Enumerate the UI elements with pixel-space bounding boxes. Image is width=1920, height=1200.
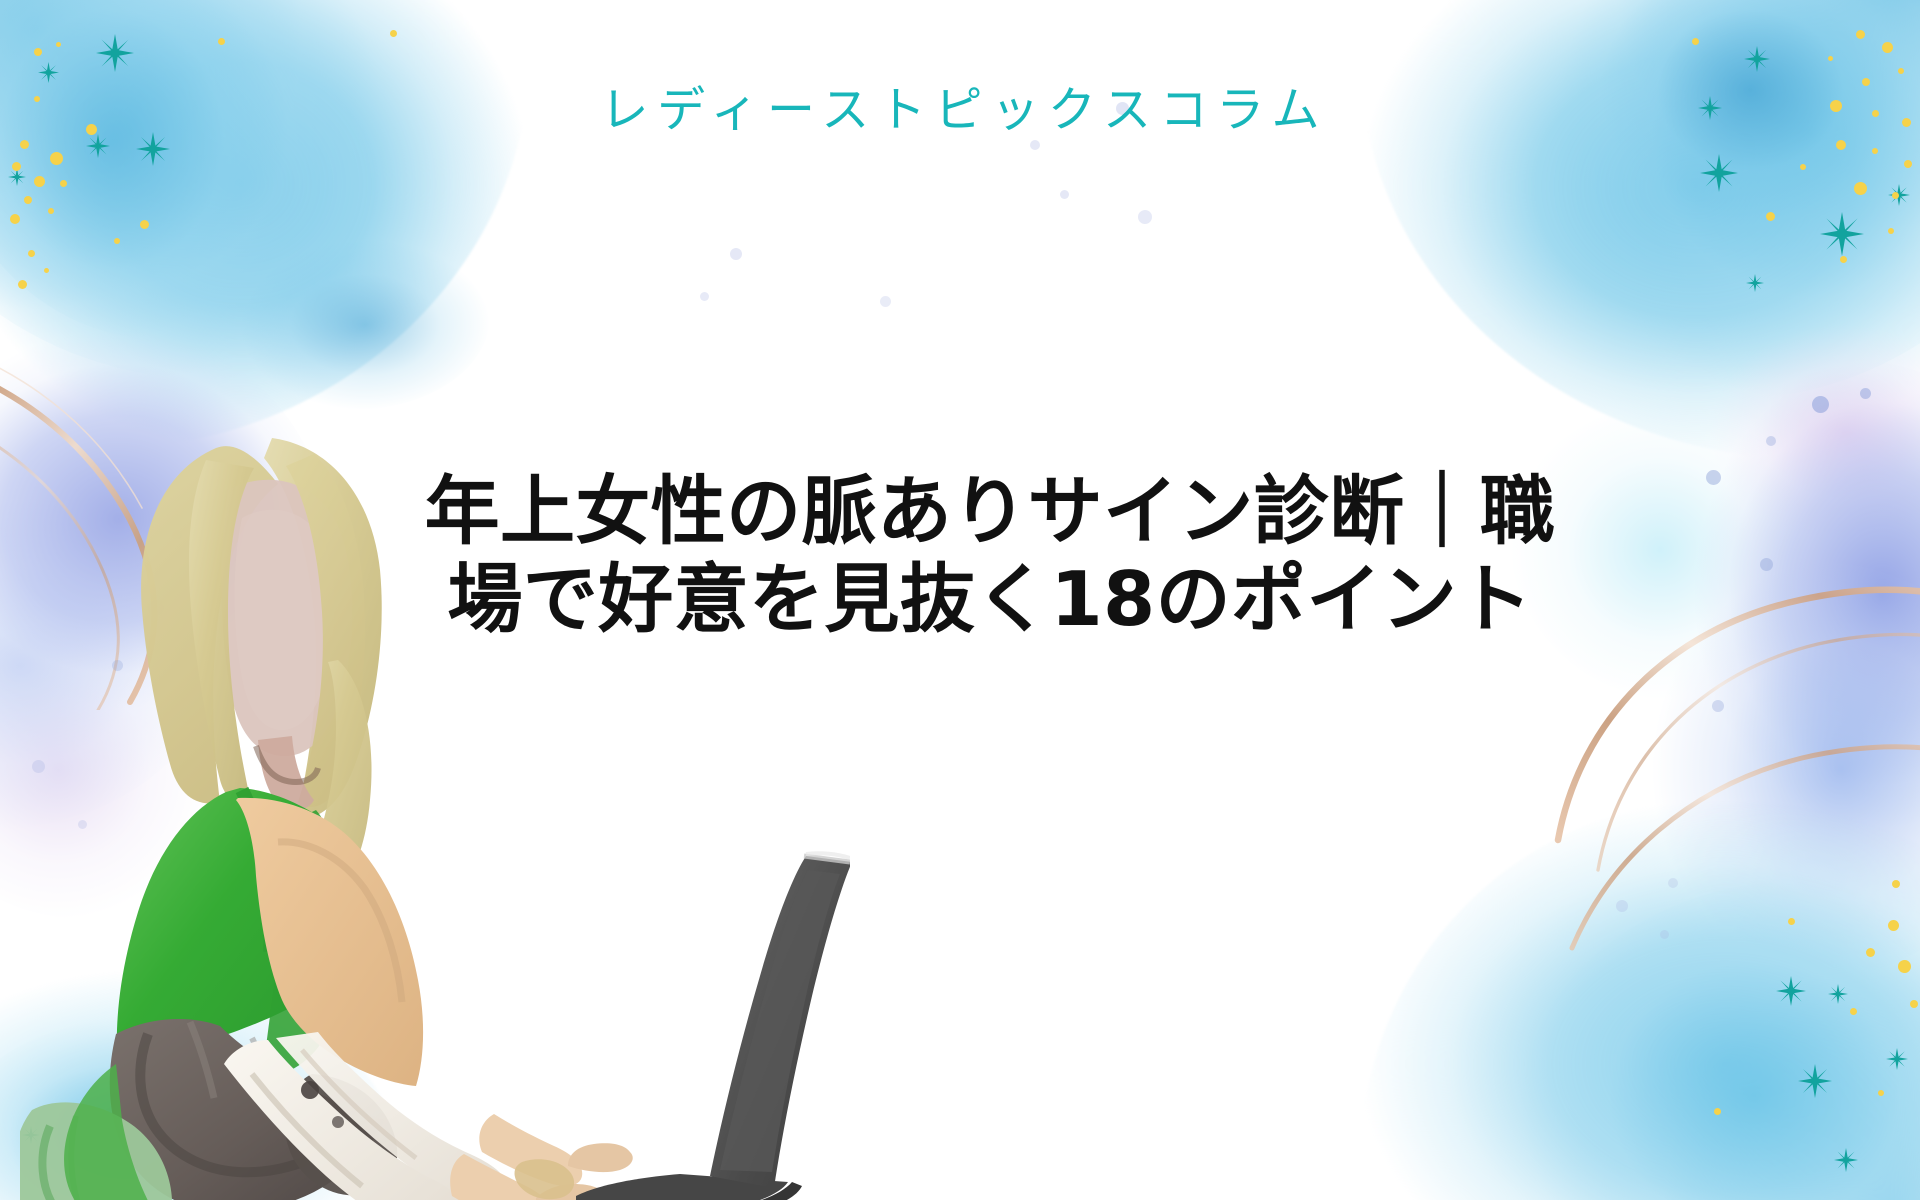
- confetti-dot: [390, 30, 397, 37]
- sparkle-star-icon: [1798, 1064, 1832, 1098]
- sparkle-star-icon: [96, 34, 134, 72]
- confetti-dot: [1872, 148, 1878, 154]
- confetti-dot: [1840, 256, 1847, 263]
- bubble-circle: [730, 248, 742, 260]
- sparkle-star-icon: [1828, 984, 1848, 1004]
- sparkle-star-icon: [8, 168, 26, 186]
- confetti-dot: [34, 176, 45, 187]
- confetti-dot: [1800, 164, 1806, 170]
- bubble-circle: [1860, 388, 1871, 399]
- bubble-circle: [1766, 436, 1776, 446]
- confetti-dot: [1788, 918, 1795, 925]
- bubble-circle: [1668, 878, 1678, 888]
- bubble-circle: [1138, 210, 1152, 224]
- confetti-dot: [44, 268, 49, 273]
- bubble-circle: [1812, 396, 1829, 413]
- page-title: 年上女性の脈ありサイン診断｜職 場で好意を見抜く18のポイント: [360, 468, 1620, 644]
- sparkle-star-icon: [1700, 154, 1738, 192]
- confetti-dot: [114, 238, 120, 244]
- bubble-circle: [1706, 470, 1721, 485]
- confetti-dot: [1892, 192, 1899, 199]
- bubble-circle: [1712, 700, 1724, 712]
- watercolor-wash-bottom-right-2: [1520, 880, 1920, 1200]
- confetti-dot: [1854, 182, 1867, 195]
- watercolor-pink-right: [1680, 300, 1920, 540]
- confetti-dot: [50, 152, 63, 165]
- confetti-dot: [60, 180, 67, 187]
- eyecatch-canvas: レディーストピックスコラム 年上女性の脈ありサイン診断｜職 場で好意を見抜く18…: [0, 0, 1920, 1200]
- confetti-dot: [1892, 880, 1900, 888]
- sparkle-star-icon: [1744, 46, 1770, 72]
- watercolor-wash-top-right: [1360, 0, 1920, 460]
- confetti-dot: [12, 162, 21, 171]
- confetti-dot: [1856, 30, 1865, 39]
- confetti-dot: [1866, 948, 1875, 957]
- confetti-dot: [1888, 920, 1899, 931]
- confetti-dot: [1910, 1000, 1918, 1008]
- confetti-dot: [20, 140, 29, 149]
- confetti-dot: [34, 48, 42, 56]
- confetti-dot: [1714, 1108, 1721, 1115]
- confetti-dot: [56, 42, 61, 47]
- category-label: レディーストピックスコラム: [0, 70, 1920, 140]
- bubble-circle: [880, 296, 891, 307]
- confetti-dot: [28, 250, 35, 257]
- watercolor-deep-top-left: [240, 240, 490, 410]
- watercolor-wash-top-right-2: [1500, 0, 1920, 400]
- sparkle-star-icon: [1820, 212, 1864, 256]
- sparkle-star-icon: [1834, 1148, 1858, 1172]
- bubble-circle: [1760, 558, 1773, 571]
- sparkle-star-icon: [1746, 274, 1764, 292]
- watercolor-wash-top-left-2: [0, 0, 440, 380]
- confetti-dot: [1836, 140, 1846, 150]
- confetti-dot: [1850, 1008, 1857, 1015]
- confetti-dot: [1878, 1090, 1884, 1096]
- sparkle-star-icon: [1888, 184, 1910, 206]
- watercolor-periwinkle-right: [1600, 360, 1920, 880]
- bubble-circle: [1616, 900, 1628, 912]
- confetti-dot: [1904, 160, 1912, 168]
- confetti-dot: [1692, 38, 1699, 45]
- bubble-circle: [1660, 930, 1669, 939]
- watercolor-periwinkle-right-2: [1610, 560, 1920, 980]
- sparkle-star-icon: [1776, 976, 1806, 1006]
- confetti-dot: [24, 196, 32, 204]
- confetti-dot: [1898, 960, 1911, 973]
- watercolor-wash-bottom-right: [1360, 800, 1920, 1200]
- watercolor-wash-top-left: [0, 0, 530, 450]
- confetti-dot: [18, 280, 27, 289]
- watercolor-wash-top-left-3: [0, 0, 370, 340]
- bubble-circle: [1030, 140, 1040, 150]
- bubble-circle: [700, 292, 709, 301]
- confetti-dot: [140, 220, 149, 229]
- confetti-dot: [1766, 212, 1775, 221]
- page-title-line-2: 場で好意を見抜く18のポイント: [360, 556, 1620, 644]
- page-title-line-1: 年上女性の脈ありサイン診断｜職: [360, 468, 1620, 556]
- confetti-dot: [1828, 56, 1833, 61]
- sparkle-star-icon: [1886, 1048, 1908, 1070]
- confetti-dot: [1888, 228, 1894, 234]
- confetti-dot: [48, 208, 54, 214]
- bubble-circle: [1060, 190, 1069, 199]
- confetti-dot: [218, 38, 225, 45]
- confetti-dot: [10, 214, 20, 224]
- confetti-dot: [1882, 42, 1893, 53]
